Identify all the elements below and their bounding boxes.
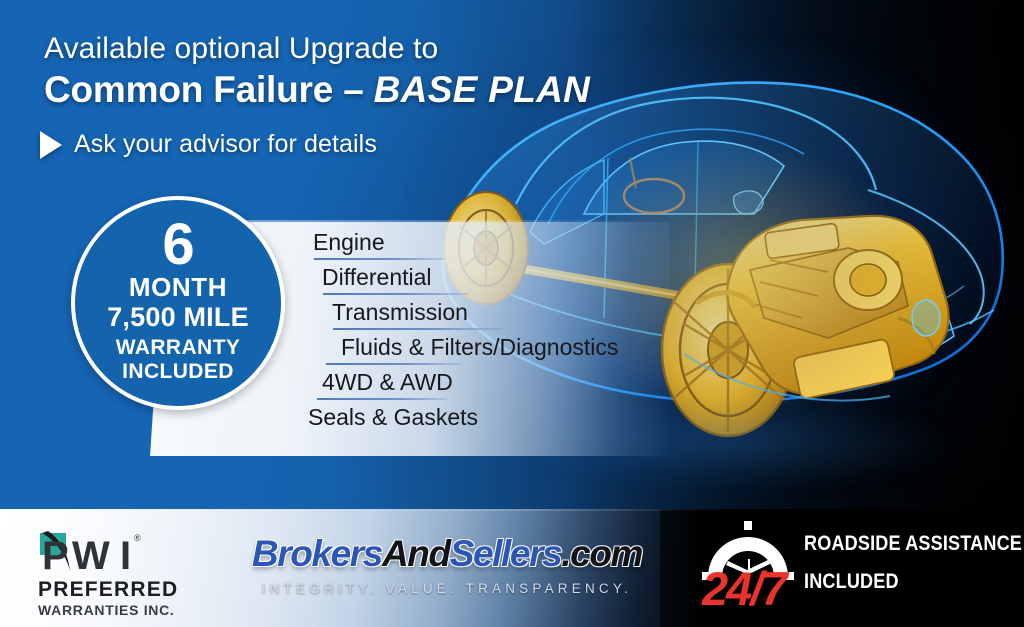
car-side-mirror	[734, 191, 763, 214]
headline-line-2: Common Failure – BASE PLAN	[44, 69, 590, 110]
coverage-item-4wd-awd: 4WD & AWD	[300, 368, 660, 403]
coverage-item-label: 4WD & AWD	[322, 368, 453, 397]
footer-bar: P W I ® PREFERRED WARRANTIES INC. Broker…	[0, 509, 1024, 627]
coverage-list: Engine Differential Transmission Fluids …	[300, 228, 660, 438]
coverage-item-seals-gaskets: Seals & Gaskets	[300, 403, 660, 438]
badge-mileage: 7,500 MILE	[107, 302, 249, 332]
svg-text:W: W	[72, 534, 110, 575]
headline-line-1: Available optional Upgrade to	[44, 32, 590, 65]
coverage-item-transmission: Transmission	[300, 298, 660, 333]
coverage-item-rule	[326, 363, 461, 365]
badge-term-unit: MONTH	[129, 273, 227, 302]
brokers-tagline: INTEGRITY. VALUE. TRANSPARENCY.	[247, 581, 647, 596]
coverage-item-fluids-filters-diagnostics: Fluids & Filters/Diagnostics	[300, 333, 660, 368]
footer-top-edge	[0, 509, 1024, 511]
coverage-item-rule	[317, 398, 447, 400]
cta-text: Ask your advisor for details	[74, 130, 377, 159]
roadside-line-2: INCLUDED	[804, 571, 1022, 592]
roadside-line-1: ROADSIDE ASSISTANCE	[804, 533, 1022, 554]
pwi-tagline-line-2: WARRANTIES INC.	[38, 603, 188, 618]
badge-term-number: 6	[162, 218, 193, 271]
coverage-item-rule	[314, 258, 444, 260]
warranty-promo-banner: Available optional Upgrade to Common Fai…	[0, 0, 1024, 627]
svg-text:I: I	[120, 534, 129, 575]
headline-block: Available optional Upgrade to Common Fai…	[44, 32, 590, 110]
washer-reservoir	[912, 300, 940, 336]
coverage-item-differential: Differential	[300, 263, 660, 298]
badge-included-label: INCLUDED	[122, 360, 234, 384]
cta-row: Ask your advisor for details	[40, 130, 377, 159]
svg-text:P: P	[42, 534, 68, 575]
pwi-trademark: ®	[134, 533, 141, 543]
coverage-item-label: Seals & Gaskets	[308, 403, 478, 432]
coverage-item-rule	[323, 293, 468, 295]
brokers-and-sellers-logo[interactable]: BrokersAndSellers.com INTEGRITY. VALUE. …	[247, 535, 647, 596]
coverage-item-label: Fluids & Filters/Diagnostics	[341, 333, 618, 362]
pwi-wordmark: P W I ®	[38, 527, 188, 575]
play-triangle-icon	[40, 131, 62, 159]
roadside-text-block: ROADSIDE ASSISTANCE INCLUDED	[804, 533, 1024, 592]
roadside-assistance-block: 24/7 ROADSIDE ASSISTANCE INCLUDED	[700, 517, 1012, 621]
bas-part-and: And	[382, 533, 450, 574]
pwi-logo: P W I ® PREFERRED WARRANTIES INC.	[38, 527, 188, 618]
coverage-item-label: Differential	[322, 263, 432, 292]
headline-plan-prefix: Common Failure –	[44, 69, 374, 110]
coverage-item-rule	[333, 328, 503, 330]
badge-warranty-label: WARRANTY	[116, 336, 241, 360]
warranty-badge: 6 MONTH 7,500 MILE WARRANTY INCLUDED	[71, 196, 285, 410]
bas-part-brokers: Brokers	[252, 533, 382, 574]
coverage-item-label: Engine	[313, 228, 385, 257]
brokers-and-sellers-wordmark: BrokersAndSellers.com	[247, 535, 647, 572]
pwi-mark-svg: P W I ®	[38, 527, 188, 575]
coverage-item-engine: Engine	[300, 228, 660, 263]
bas-part-dotcom: .com	[561, 533, 642, 574]
roadside-hours: 24/7	[702, 565, 785, 612]
coverage-item-label: Transmission	[332, 298, 468, 327]
headline-plan-name: BASE PLAN	[374, 69, 591, 110]
bas-part-sellers: Sellers	[450, 533, 562, 574]
pwi-tagline-line-1: PREFERRED	[38, 578, 188, 601]
